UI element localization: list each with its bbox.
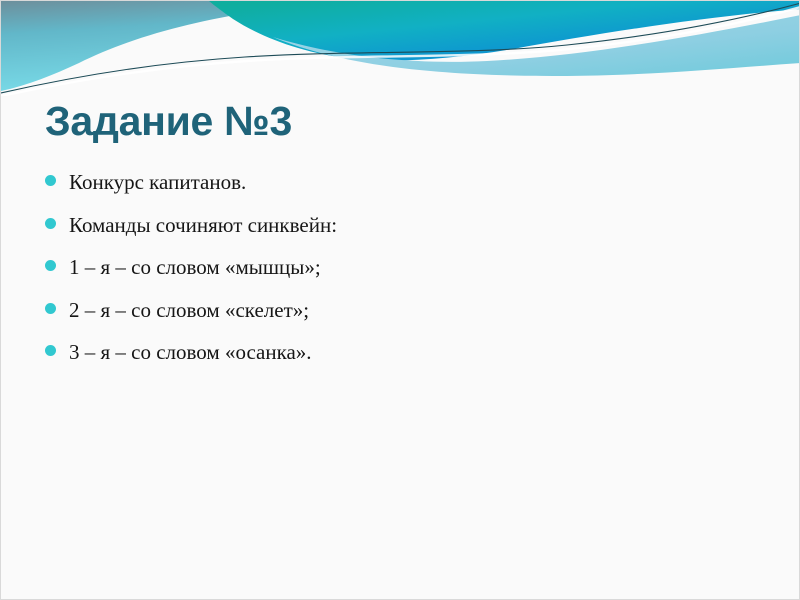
list-item: Конкурс капитанов.: [45, 171, 755, 195]
list-item: 1 – я – со словом «мышцы»;: [45, 256, 755, 280]
list-item-label: 3 – я – со словом «осанка».: [69, 341, 312, 365]
list-item: Команды сочиняют синквейн:: [45, 214, 755, 238]
wave-pale-band-shape: [273, 15, 800, 76]
list-item: 3 – я – со словом «осанка».: [45, 341, 755, 365]
wave-hairline-stroke: [1, 3, 800, 93]
wave-right-main-shape: [209, 1, 800, 61]
bullet-dot-icon: [45, 260, 56, 271]
wave-left-shape: [1, 1, 361, 91]
list-item-label: 1 – я – со словом «мышцы»;: [69, 256, 321, 280]
bullet-dot-icon: [45, 218, 56, 229]
list-item-label: Конкурс капитанов.: [69, 171, 246, 195]
list-item: 2 – я – со словом «скелет»;: [45, 299, 755, 323]
bullet-dot-icon: [45, 175, 56, 186]
wave-banner-decoration: [1, 1, 800, 96]
slide-canvas: Задание №3 Конкурс капитанов. Команды со…: [0, 0, 800, 600]
bullet-list: Конкурс капитанов. Команды сочиняют синк…: [45, 171, 755, 365]
bullet-dot-icon: [45, 345, 56, 356]
title-block: Задание №3: [45, 99, 745, 143]
wave-highlight-stroke: [1, 7, 800, 96]
list-item-label: Команды сочиняют синквейн:: [69, 214, 337, 238]
list-item-label: 2 – я – со словом «скелет»;: [69, 299, 309, 323]
page-title: Задание №3: [45, 99, 745, 143]
bullet-dot-icon: [45, 303, 56, 314]
